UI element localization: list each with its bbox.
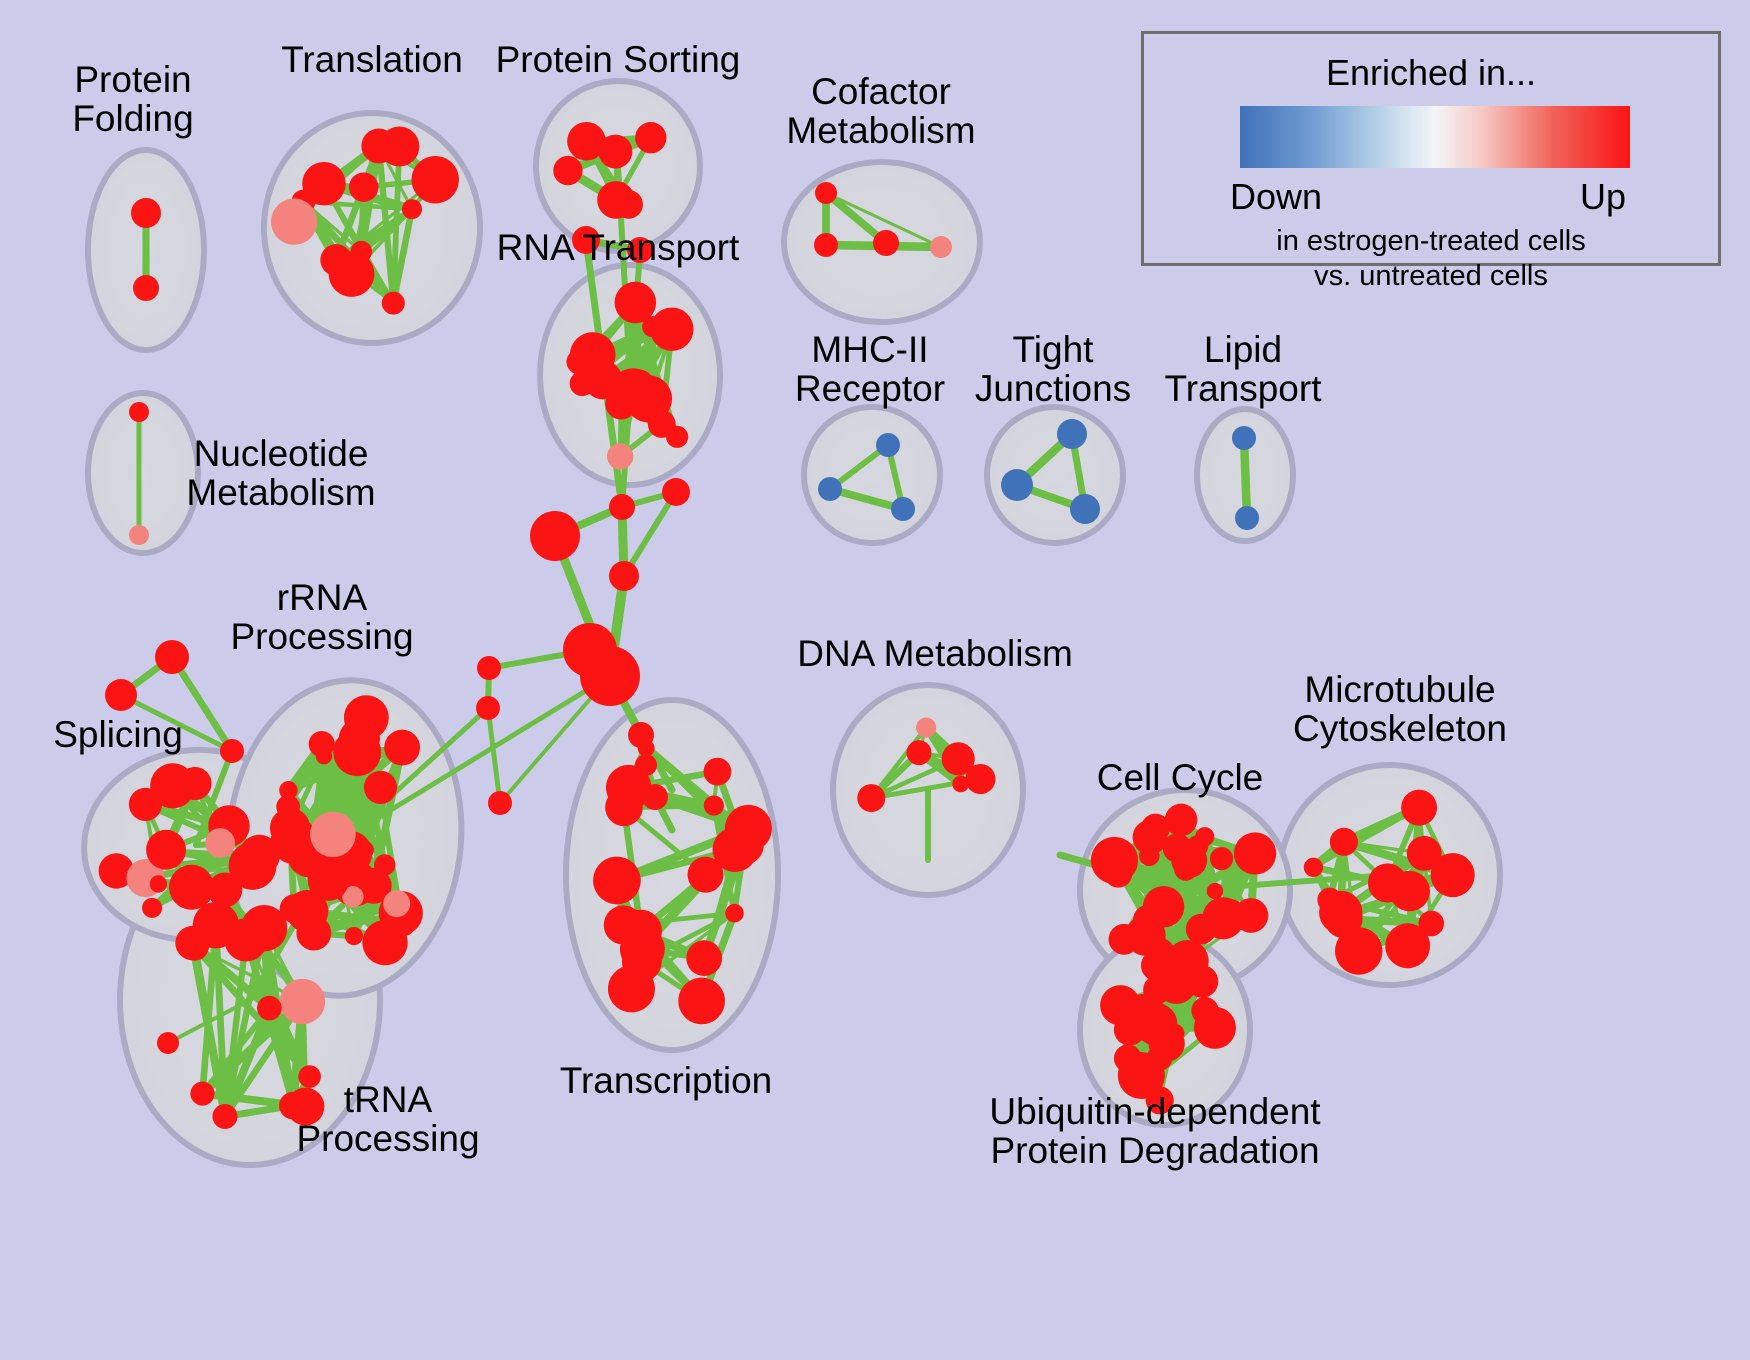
network-node[interactable] (364, 771, 397, 804)
cluster-label-cell-cycle: Cell Cycle (1097, 758, 1264, 797)
network-node[interactable] (662, 478, 690, 506)
network-node[interactable] (1235, 506, 1259, 530)
network-node[interactable] (1401, 790, 1437, 826)
network-node[interactable] (873, 230, 899, 256)
network-node[interactable] (175, 926, 209, 960)
cluster-label-splicing: Splicing (53, 715, 183, 754)
network-node[interactable] (146, 830, 186, 870)
cluster-label-ubiquitin-protein-degradation: Ubiquitin-dependent Protein Degradation (989, 1092, 1320, 1170)
network-node[interactable] (814, 233, 838, 257)
cluster-label-cofactor-metabolism: Cofactor Metabolism (786, 72, 975, 150)
network-node[interactable] (614, 190, 643, 219)
network-node[interactable] (208, 873, 243, 908)
network-node[interactable] (607, 443, 633, 469)
network-node[interactable] (1163, 833, 1192, 862)
network-node[interactable] (930, 236, 952, 258)
network-node[interactable] (105, 679, 137, 711)
cluster-label-microtubule-cytoskeleton: Microtubule Cytoskeleton (1293, 670, 1507, 748)
network-node[interactable] (362, 920, 407, 965)
cluster-label-protein-sorting: Protein Sorting (496, 40, 741, 79)
cluster-label-tight-junctions: Tight Junctions (975, 330, 1131, 408)
network-node[interactable] (316, 748, 332, 764)
network-node[interactable] (280, 979, 325, 1024)
network-node[interactable] (129, 525, 149, 545)
network-node[interactable] (1304, 858, 1323, 877)
legend-high-label: Up (1580, 176, 1626, 218)
network-node[interactable] (916, 718, 936, 738)
network-node[interactable] (1070, 494, 1100, 524)
network-node[interactable] (1001, 469, 1033, 501)
legend-color-bar (1240, 106, 1630, 168)
network-node[interactable] (412, 156, 459, 203)
network-node[interactable] (1330, 828, 1358, 856)
cluster-label-protein-folding: Protein Folding (72, 60, 193, 138)
network-node[interactable] (379, 127, 419, 167)
cluster-label-nucleotide-metabolism: Nucleotide Metabolism (186, 434, 375, 512)
network-node[interactable] (271, 199, 317, 245)
network-node[interactable] (609, 494, 635, 520)
network-node[interactable] (345, 927, 363, 945)
network-node[interactable] (1232, 426, 1256, 450)
network-node[interactable] (530, 511, 580, 561)
network-node[interactable] (488, 791, 512, 815)
network-node[interactable] (310, 812, 356, 858)
network-node[interactable] (169, 865, 214, 910)
network-node[interactable] (580, 646, 640, 706)
network-node[interactable] (150, 763, 195, 808)
network-node[interactable] (818, 477, 842, 501)
network-node[interactable] (476, 696, 500, 720)
legend-subtitle-line2: vs. untreated cells (1144, 259, 1718, 294)
legend-subtitle-line1: in estrogen-treated cells (1144, 224, 1718, 259)
network-node[interactable] (1207, 883, 1223, 899)
network-node[interactable] (1194, 1007, 1236, 1049)
network-node[interactable] (876, 433, 900, 457)
network-node[interactable] (241, 905, 287, 951)
cluster-label-mhc-ii-receptor: MHC-II Receptor (795, 330, 945, 408)
network-node[interactable] (725, 904, 744, 923)
network-node[interactable] (302, 162, 345, 205)
network-node[interactable] (1091, 837, 1138, 884)
network-node[interactable] (351, 241, 372, 262)
network-node[interactable] (477, 656, 501, 680)
network-node[interactable] (678, 978, 725, 1025)
legend-subtitle: in estrogen-treated cells vs. untreated … (1144, 224, 1718, 295)
network-node[interactable] (593, 857, 641, 905)
network-node[interactable] (150, 875, 167, 892)
network-node[interactable] (638, 740, 655, 757)
network-node[interactable] (257, 996, 282, 1021)
network-node[interactable] (320, 244, 352, 276)
network-node[interactable] (1418, 911, 1444, 937)
network-node[interactable] (382, 292, 405, 315)
network-node[interactable] (1156, 964, 1196, 1004)
network-node[interactable] (131, 198, 161, 228)
network-node[interactable] (129, 402, 149, 422)
cluster-label-translation: Translation (281, 40, 463, 79)
network-node[interactable] (1319, 891, 1362, 934)
network-node[interactable] (686, 940, 722, 976)
network-node[interactable] (606, 765, 651, 810)
network-node[interactable] (815, 182, 837, 204)
network-node[interactable] (1234, 898, 1269, 933)
network-node[interactable] (666, 426, 688, 448)
cluster-label-rrna-processing: rRNA Processing (230, 578, 413, 656)
cluster-label-lipid-transport: Lipid Transport (1165, 330, 1322, 408)
network-node[interactable] (642, 316, 663, 337)
network-node[interactable] (1165, 804, 1198, 837)
network-node[interactable] (609, 561, 639, 591)
network-node[interactable] (155, 640, 189, 674)
network-node[interactable] (650, 383, 667, 400)
network-node[interactable] (349, 172, 378, 201)
network-node[interactable] (296, 916, 331, 951)
network-node[interactable] (276, 795, 300, 819)
cluster-shape-mhc-ii-receptor (804, 407, 940, 543)
network-node[interactable] (1195, 827, 1214, 846)
network-node[interactable] (724, 825, 764, 865)
network-node[interactable] (142, 898, 162, 918)
network-node[interactable] (906, 740, 931, 765)
network-node[interactable] (1100, 985, 1140, 1025)
network-node[interactable] (344, 695, 389, 740)
network-node[interactable] (205, 828, 235, 858)
network-node[interactable] (553, 156, 582, 185)
enrichment-map-figure: Enriched in... Down Up in estrogen-treat… (0, 0, 1750, 1360)
network-node[interactable] (1234, 832, 1276, 874)
network-node[interactable] (965, 764, 995, 794)
network-node[interactable] (620, 927, 665, 972)
legend-title: Enriched in... (1144, 52, 1718, 94)
network-node[interactable] (1194, 974, 1213, 993)
cluster-label-dna-metabolism: DNA Metabolism (797, 634, 1073, 673)
legend-low-label: Down (1230, 176, 1322, 218)
network-node[interactable] (133, 275, 159, 301)
network-node[interactable] (402, 199, 422, 219)
network-node[interactable] (1148, 1025, 1184, 1061)
network-node[interactable] (567, 122, 606, 161)
network-node[interactable] (212, 1104, 237, 1129)
network-edge (1244, 438, 1247, 518)
network-node[interactable] (1125, 915, 1165, 955)
network-node[interactable] (857, 784, 885, 812)
cluster-label-trna-processing: tRNA Processing (296, 1080, 479, 1158)
network-node[interactable] (891, 497, 915, 521)
network-node[interactable] (1407, 836, 1442, 871)
network-node[interactable] (1210, 847, 1233, 870)
network-node[interactable] (190, 1082, 214, 1106)
network-node[interactable] (157, 1032, 179, 1054)
network-node[interactable] (704, 758, 732, 786)
network-node[interactable] (220, 739, 244, 763)
network-node[interactable] (384, 730, 420, 766)
legend-box: Enriched in... Down Up in estrogen-treat… (1141, 31, 1721, 266)
network-node[interactable] (1057, 419, 1087, 449)
network-edge (488, 708, 500, 803)
network-node[interactable] (635, 122, 666, 153)
network-node[interactable] (1141, 814, 1170, 843)
network-node[interactable] (688, 857, 724, 893)
network-node[interactable] (704, 795, 724, 815)
network-node[interactable] (383, 890, 410, 917)
network-node[interactable] (374, 854, 395, 875)
cluster-label-rna-transport: RNA Transport (497, 228, 740, 267)
network-node[interactable] (583, 360, 622, 399)
cluster-label-transcription: Transcription (560, 1061, 772, 1100)
network-node[interactable] (625, 375, 672, 422)
network-node[interactable] (1389, 871, 1430, 912)
